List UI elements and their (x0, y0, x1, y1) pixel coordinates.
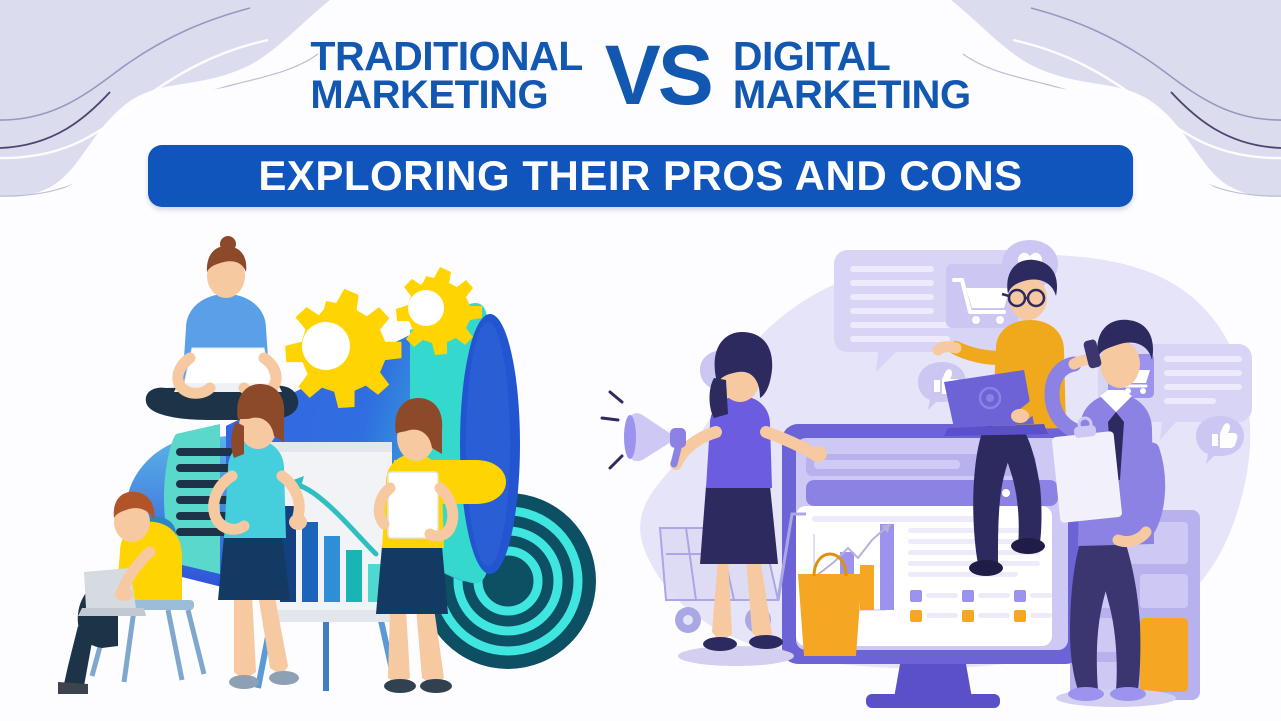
title-row: TRADITIONAL MARKETING VS DIGITAL MARKETI… (0, 36, 1281, 115)
traditional-title-line1: TRADITIONAL (310, 36, 582, 76)
digital-title-line2: MARKETING (733, 76, 971, 115)
digital-title-line1: DIGITAL (733, 36, 890, 76)
traditional-marketing-illustration (58, 236, 618, 706)
flipchart-bar-4 (346, 550, 362, 602)
dashboard-bar-4 (880, 524, 894, 610)
flipchart-bar-3 (324, 536, 340, 602)
desktop-monitor-dashboard (782, 424, 1082, 708)
poster-canvas: TRADITIONAL MARKETING VS DIGITAL MARKETI… (0, 0, 1281, 721)
dashboard-bar-3 (860, 565, 874, 610)
handheld-megaphone (602, 392, 686, 468)
traditional-title-block: TRADITIONAL MARKETING (310, 36, 582, 115)
vs-label: VS (605, 38, 711, 114)
poster-header: TRADITIONAL MARKETING VS DIGITAL MARKETI… (0, 0, 1281, 215)
traditional-title-line2: MARKETING (310, 76, 548, 115)
subtitle-banner: EXPLORING THEIR PROS AND CONS (148, 145, 1133, 207)
digital-marketing-illustration (600, 228, 1272, 708)
subtitle-banner-text: EXPLORING THEIR PROS AND CONS (258, 152, 1022, 200)
flipchart-bar-2 (302, 522, 318, 602)
calculator-orange-key (1140, 618, 1188, 692)
digital-title-block: DIGITAL MARKETING (733, 36, 971, 115)
